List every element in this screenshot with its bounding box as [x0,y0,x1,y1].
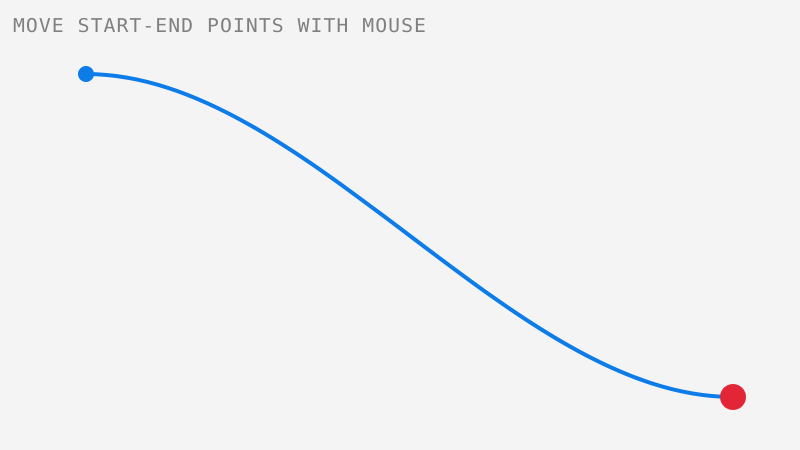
end-point-handle[interactable] [720,384,746,410]
canvas-app-root: MOVE START-END POINTS WITH MOUSE [0,0,800,450]
start-point-handle[interactable] [78,66,94,82]
page-title: MOVE START-END POINTS WITH MOUSE [13,14,427,38]
bezier-curve [86,74,733,397]
bezier-canvas[interactable] [0,0,800,450]
